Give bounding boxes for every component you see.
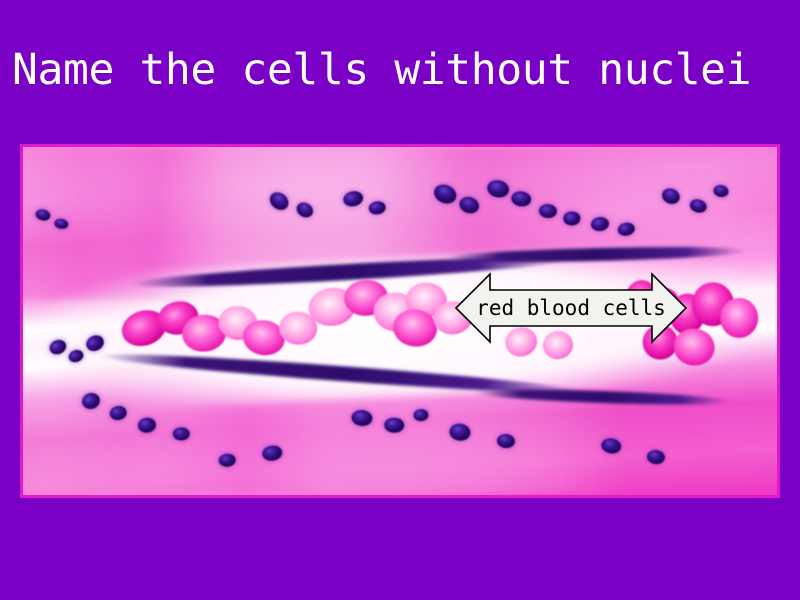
cell-nucleus <box>173 427 190 440</box>
red-blood-cell <box>720 298 758 338</box>
cell-nucleus <box>218 453 235 467</box>
slide-canvas: Name the cells without nuclei red blood … <box>0 0 800 600</box>
callout-arrow: red blood cells <box>454 270 688 346</box>
callout-label: red blood cells <box>454 270 688 346</box>
page-title: Name the cells without nuclei <box>12 44 800 96</box>
cell-nucleus <box>384 418 404 433</box>
